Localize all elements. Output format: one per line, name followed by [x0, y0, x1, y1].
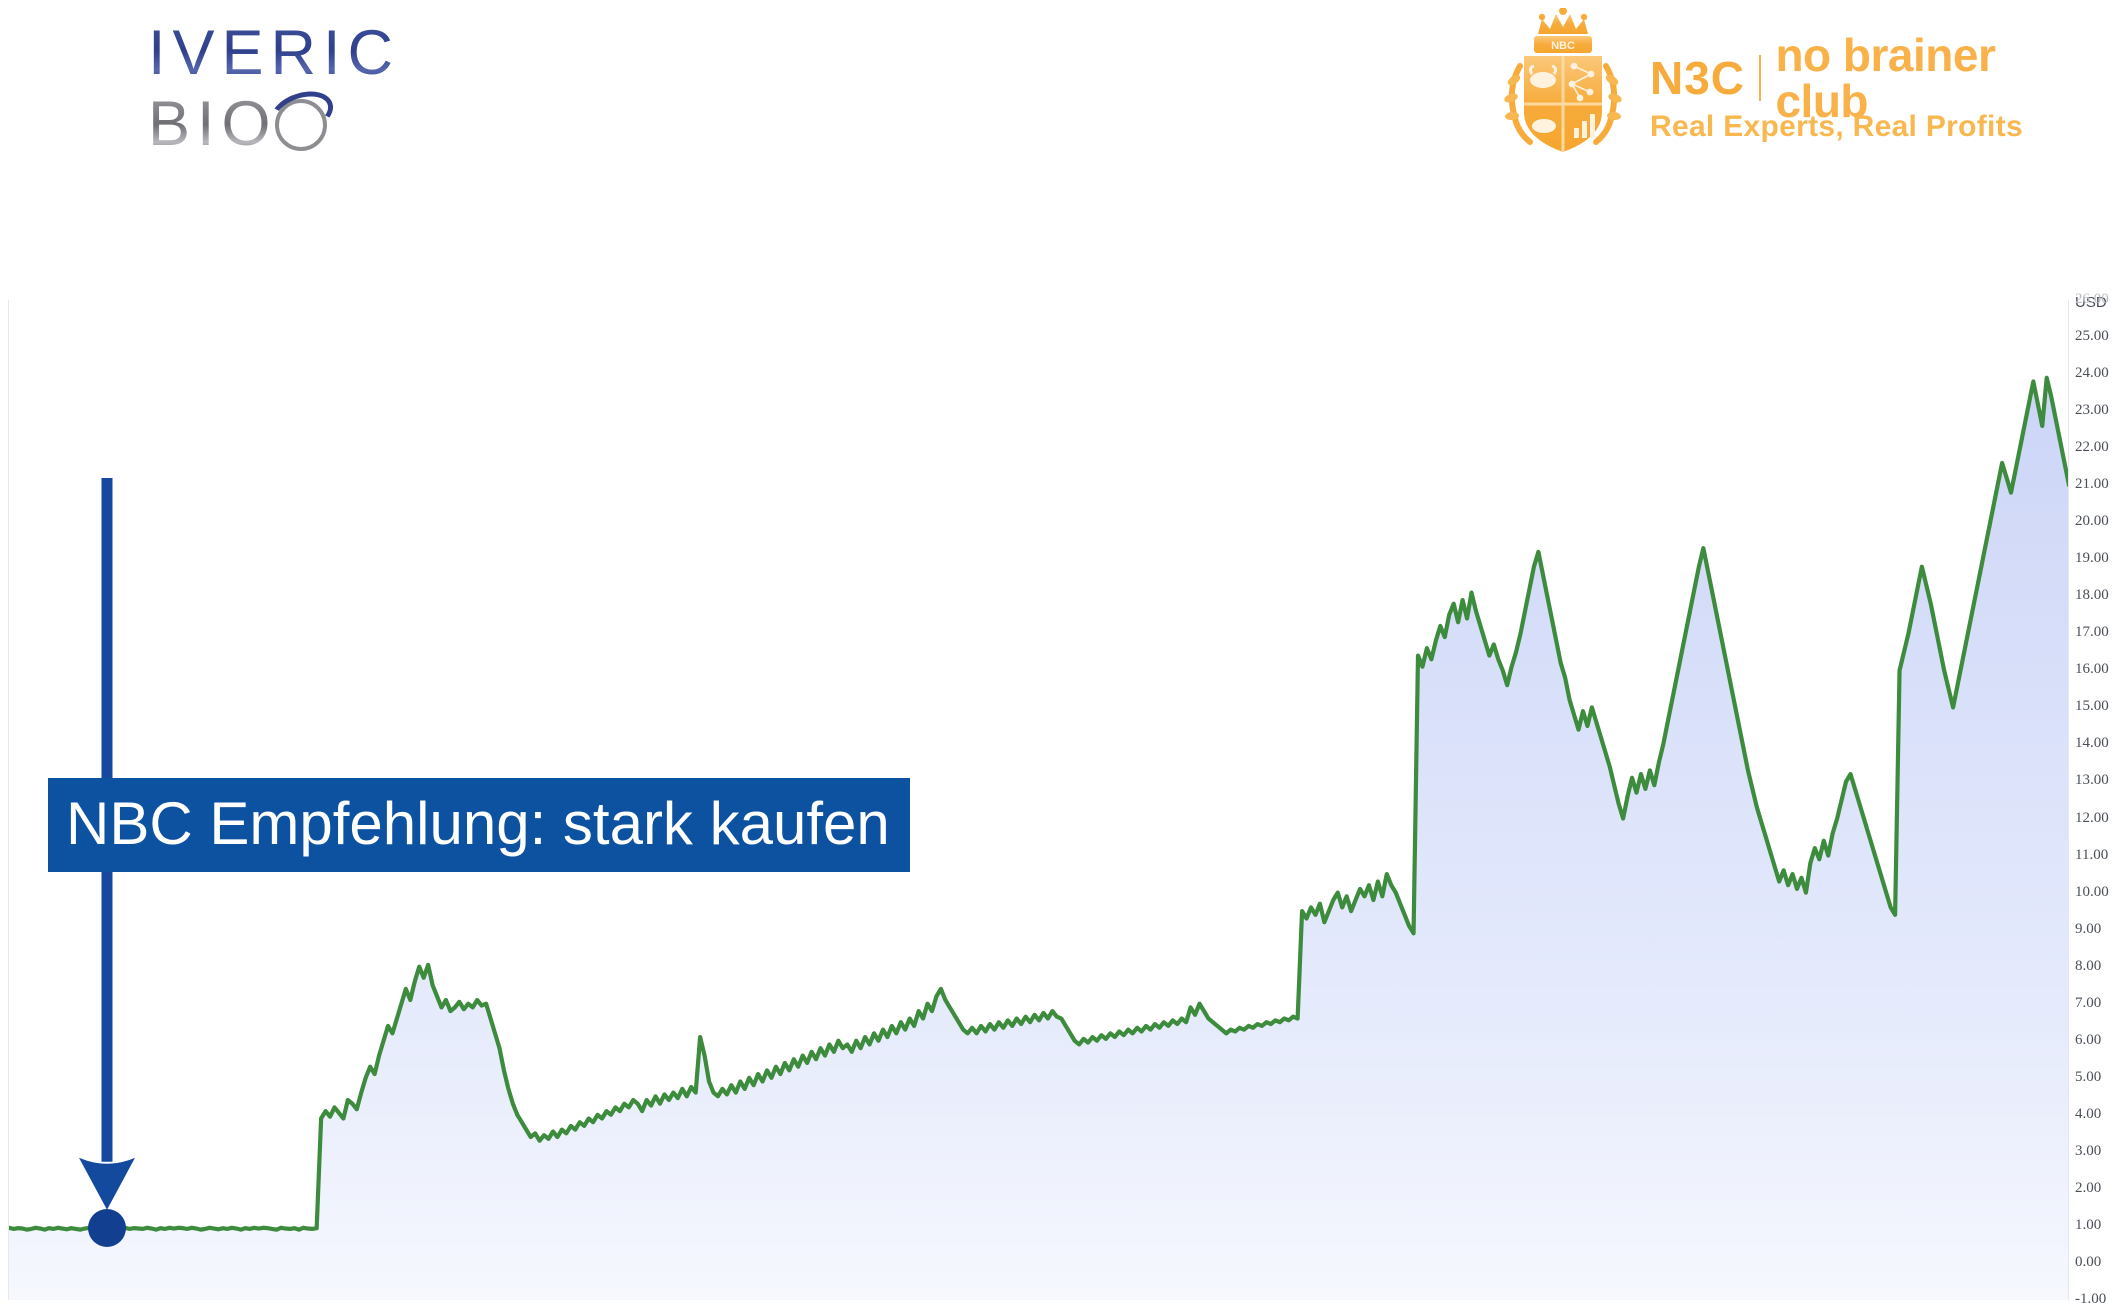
brand-logo-text: N3C no brainer club Real Experts, Real P… [1650, 52, 2038, 144]
axis-tick-label: 0.00 [2075, 1254, 2101, 1271]
axis-tick-label: 26.00 [2075, 291, 2109, 308]
price-chart: NBC Empfehlung: stark kaufen USD 26.0025… [0, 300, 2127, 1300]
axis-tick-label: 23.00 [2075, 402, 2109, 419]
company-logo-line2-row: BIO [148, 93, 568, 155]
axis-tick-label: 3.00 [2075, 1143, 2101, 1160]
axis-tick-label: 22.00 [2075, 439, 2109, 456]
axis-tick-label: 6.00 [2075, 1032, 2101, 1049]
axis-tick-label: 17.00 [2075, 624, 2109, 641]
axis-tick-label: 4.00 [2075, 1106, 2101, 1123]
axis-tick-label: 2.00 [2075, 1180, 2101, 1197]
axis-tick-label: 21.00 [2075, 476, 2109, 493]
axis-tick-label: 20.00 [2075, 513, 2109, 530]
company-logo-line1: IVERIC [148, 22, 568, 85]
brand-divider [1759, 55, 1761, 101]
annotation-point-marker [88, 1209, 126, 1247]
axis-tick-label: 15.00 [2075, 698, 2109, 715]
axis-tick-label: 16.00 [2075, 661, 2109, 678]
axis-tick-label: 24.00 [2075, 365, 2109, 382]
brand-title-row: N3C no brainer club [1650, 52, 2038, 104]
annotation-banner[interactable]: NBC Empfehlung: stark kaufen [48, 778, 910, 872]
axis-tick-label: 25.00 [2075, 328, 2109, 345]
axis-tick-label: 1.00 [2075, 1217, 2101, 1234]
company-logo-line2: BIO [148, 93, 568, 156]
axis-tick-label: 14.00 [2075, 735, 2109, 752]
axis-tick-label: 8.00 [2075, 958, 2101, 975]
brand-tagline: Real Experts, Real Profits [1650, 110, 2038, 144]
page-header: IVERIC BIO NBC [0, 0, 2127, 300]
axis-tick-label: 11.00 [2075, 847, 2108, 864]
price-axis[interactable]: USD 26.0025.0024.0023.0022.0021.0020.001… [2068, 300, 2127, 1300]
axis-tick-label: 10.00 [2075, 884, 2109, 901]
axis-tick-label: 12.00 [2075, 810, 2109, 827]
axis-tick-label: 5.00 [2075, 1069, 2101, 1086]
axis-tick-label: 19.00 [2075, 550, 2109, 567]
brand-mark: N3C [1650, 55, 1745, 101]
axis-tick-label: 13.00 [2075, 772, 2109, 789]
axis-tick-label: 7.00 [2075, 995, 2101, 1012]
svg-text:NBC: NBC [1551, 40, 1575, 52]
axis-tick-label: 18.00 [2075, 587, 2109, 604]
crest-icon: NBC [1498, 8, 1628, 153]
axis-tick-label: 9.00 [2075, 921, 2101, 938]
annotation-label: NBC Empfehlung: stark kaufen [66, 794, 890, 854]
brand-logo: NBC [1478, 8, 2038, 153]
company-logo: IVERIC BIO [148, 22, 568, 152]
